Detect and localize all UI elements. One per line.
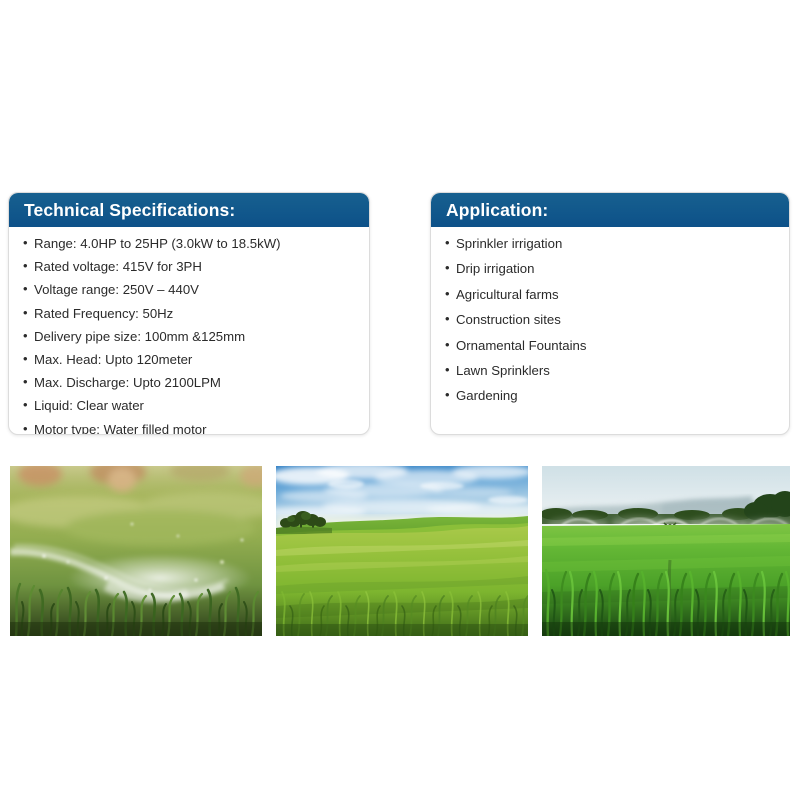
- application-body: •Sprinkler irrigation •Drip irrigation •…: [431, 227, 789, 422]
- close-up-lawn-sprinkler-spray-photo: [10, 466, 262, 636]
- list-item-label: Liquid: Clear water: [34, 398, 144, 413]
- rolling-green-field-photo: [276, 466, 528, 636]
- list-item-label: Construction sites: [456, 312, 561, 327]
- list-item-label: Sprinkler irrigation: [456, 236, 562, 251]
- technical-specifications-card: Technical Specifications: •Range: 4.0HP …: [8, 192, 370, 435]
- bullet-icon: •: [23, 351, 28, 367]
- bullet-icon: •: [445, 337, 450, 353]
- list-item: •Range: 4.0HP to 25HP (3.0kW to 18.5kW): [21, 236, 357, 252]
- list-item: •Rated Frequency: 50Hz: [21, 306, 357, 322]
- technical-specifications-header: Technical Specifications:: [9, 193, 369, 227]
- technical-specifications-list: •Range: 4.0HP to 25HP (3.0kW to 18.5kW) …: [21, 236, 357, 435]
- bullet-icon: •: [23, 374, 28, 390]
- list-item: •Max. Head: Upto 120meter: [21, 352, 357, 368]
- list-item: •Gardening: [443, 388, 777, 404]
- list-item: •Ornamental Fountains: [443, 338, 777, 354]
- bullet-icon: •: [445, 387, 450, 403]
- green-field-illustration: [276, 466, 528, 636]
- list-item-label: Gardening: [456, 388, 518, 403]
- list-item-label: Delivery pipe size: 100mm &125mm: [34, 329, 245, 344]
- list-item-label: Rated voltage: 415V for 3PH: [34, 259, 202, 274]
- list-item: •Motor type: Water filled motor: [21, 422, 357, 436]
- list-item-label: Motor type: Water filled motor: [34, 422, 206, 436]
- list-item: •Drip irrigation: [443, 261, 777, 277]
- bullet-icon: •: [445, 260, 450, 276]
- list-item-label: Drip irrigation: [456, 261, 534, 276]
- bullet-icon: •: [23, 397, 28, 413]
- list-item-label: Range: 4.0HP to 25HP (3.0kW to 18.5kW): [34, 236, 281, 251]
- lawn-sprinkler-illustration: [10, 466, 262, 636]
- list-item-label: Max. Head: Upto 120meter: [34, 352, 192, 367]
- application-header: Application:: [431, 193, 789, 227]
- bullet-icon: •: [445, 286, 450, 302]
- bullet-icon: •: [23, 305, 28, 321]
- bullet-icon: •: [23, 421, 28, 436]
- list-item-label: Rated Frequency: 50Hz: [34, 306, 173, 321]
- bullet-icon: •: [23, 281, 28, 297]
- bullet-icon: •: [23, 258, 28, 274]
- list-item: •Liquid: Clear water: [21, 398, 357, 414]
- technical-specifications-body: •Range: 4.0HP to 25HP (3.0kW to 18.5kW) …: [9, 227, 369, 435]
- application-card: Application: •Sprinkler irrigation •Drip…: [430, 192, 790, 435]
- list-item: •Sprinkler irrigation: [443, 236, 777, 252]
- list-item: •Delivery pipe size: 100mm &125mm: [21, 329, 357, 345]
- list-item: •Rated voltage: 415V for 3PH: [21, 259, 357, 275]
- list-item-label: Ornamental Fountains: [456, 338, 586, 353]
- application-list: •Sprinkler irrigation •Drip irrigation •…: [443, 236, 777, 404]
- bullet-icon: •: [23, 328, 28, 344]
- crop-irrigation-illustration: [542, 466, 790, 636]
- bullet-icon: •: [445, 362, 450, 378]
- list-item-label: Max. Discharge: Upto 2100LPM: [34, 375, 221, 390]
- list-item-label: Lawn Sprinklers: [456, 363, 550, 378]
- list-item: •Construction sites: [443, 312, 777, 328]
- list-item-label: Voltage range: 250V – 440V: [34, 282, 199, 297]
- list-item-label: Agricultural farms: [456, 287, 559, 302]
- crop-field-sprinkler-irrigation-photo: [542, 466, 790, 636]
- list-item: •Lawn Sprinklers: [443, 363, 777, 379]
- bullet-icon: •: [445, 235, 450, 251]
- list-item: •Voltage range: 250V – 440V: [21, 282, 357, 298]
- bullet-icon: •: [23, 235, 28, 251]
- bullet-icon: •: [445, 311, 450, 327]
- list-item: •Agricultural farms: [443, 287, 777, 303]
- list-item: •Max. Discharge: Upto 2100LPM: [21, 375, 357, 391]
